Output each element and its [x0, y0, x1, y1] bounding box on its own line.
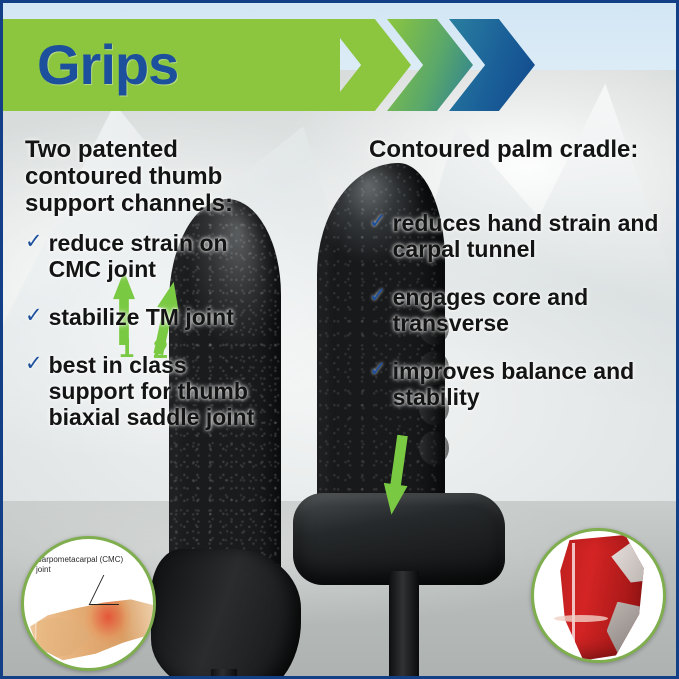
grip-base [151, 549, 301, 679]
finger-ridge [419, 431, 449, 465]
check-icon: ✓ [25, 304, 43, 330]
check-icon: ✓ [369, 358, 387, 410]
check-icon: ✓ [369, 284, 387, 336]
list-item-label: reduce strain on CMC joint [49, 230, 275, 282]
list-item: ✓ improves balance and stability [369, 358, 669, 410]
transverse-marker [554, 615, 608, 622]
list-item: ✓ reduces hand strain and carpal tunnel [369, 210, 669, 262]
check-icon: ✓ [25, 230, 43, 282]
header-banner: Grips [3, 19, 676, 111]
list-item-label: improves balance and stability [393, 358, 669, 410]
list-item: ✓ reduce strain on CMC joint [25, 230, 275, 282]
infographic-page: Grips 1 2 Two patented contoured thumb s… [0, 0, 679, 679]
linea-alba-line [572, 543, 575, 651]
list-item-label: stabilize TM joint [49, 304, 234, 330]
core-muscle-inset [531, 528, 666, 663]
pole-shaft-right [389, 571, 419, 679]
list-item-label: best in class support for thumb biaxial … [49, 352, 275, 430]
right-text-column: Contoured palm cradle: ✓ reduces hand st… [369, 137, 669, 432]
core-anatomy-illustration [544, 535, 660, 663]
pole-shaft-left [211, 669, 237, 679]
check-icon: ✓ [25, 352, 43, 430]
list-item-label: reduces hand strain and carpal tunnel [393, 210, 669, 262]
left-column-heading: Two patented contoured thumb support cha… [25, 137, 275, 218]
check-icon: ✓ [369, 210, 387, 262]
left-text-column: Two patented contoured thumb support cha… [25, 137, 275, 452]
list-item: ✓ engages core and transverse [369, 284, 669, 336]
list-item: ✓ best in class support for thumb biaxia… [25, 352, 275, 430]
cmc-joint-inset: Carpometacarpal (CMC) joint [21, 536, 156, 671]
cmc-inset-label: Carpometacarpal (CMC) joint [36, 555, 132, 575]
right-column-heading: Contoured palm cradle: [369, 137, 669, 164]
list-item: ✓ stabilize TM joint [25, 304, 275, 330]
list-item-label: engages core and transverse [393, 284, 669, 336]
page-title: Grips [37, 37, 178, 93]
